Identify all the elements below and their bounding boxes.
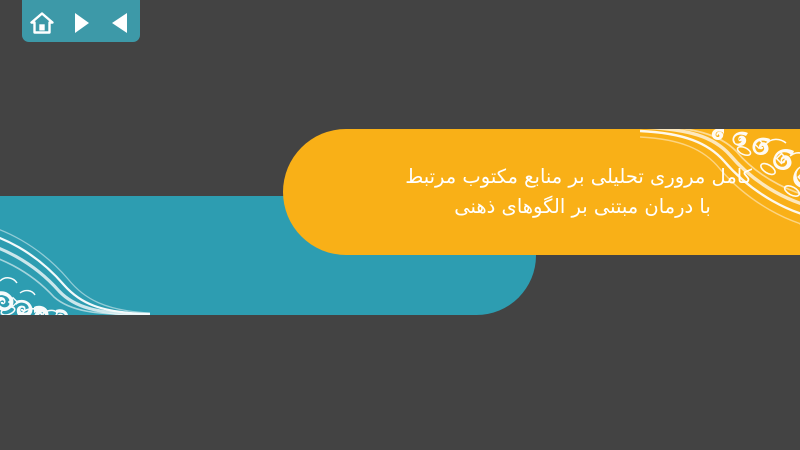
title-line-2: با درمان مبتنی بر الگوهای ذهنی (413, 192, 752, 222)
slide-canvas: کامل مروری تحلیلی بر منابع مکتوب مرتبط ب… (0, 0, 800, 450)
slide-title: کامل مروری تحلیلی بر منابع مکتوب مرتبط ب… (283, 162, 800, 222)
home-button[interactable] (29, 10, 55, 36)
home-icon (30, 12, 54, 35)
slide-navigation-bar (22, 0, 140, 42)
previous-slide-button[interactable] (107, 10, 133, 36)
title-banner: کامل مروری تحلیلی بر منابع مکتوب مرتبط ب… (283, 129, 800, 255)
next-slide-button[interactable] (68, 10, 94, 36)
title-line-1: کامل مروری تحلیلی بر منابع مکتوب مرتبط (413, 162, 752, 192)
arabesque-corner-ornament-mirrored (0, 196, 150, 315)
triangle-right-icon (71, 12, 91, 34)
triangle-left-icon (110, 12, 130, 34)
